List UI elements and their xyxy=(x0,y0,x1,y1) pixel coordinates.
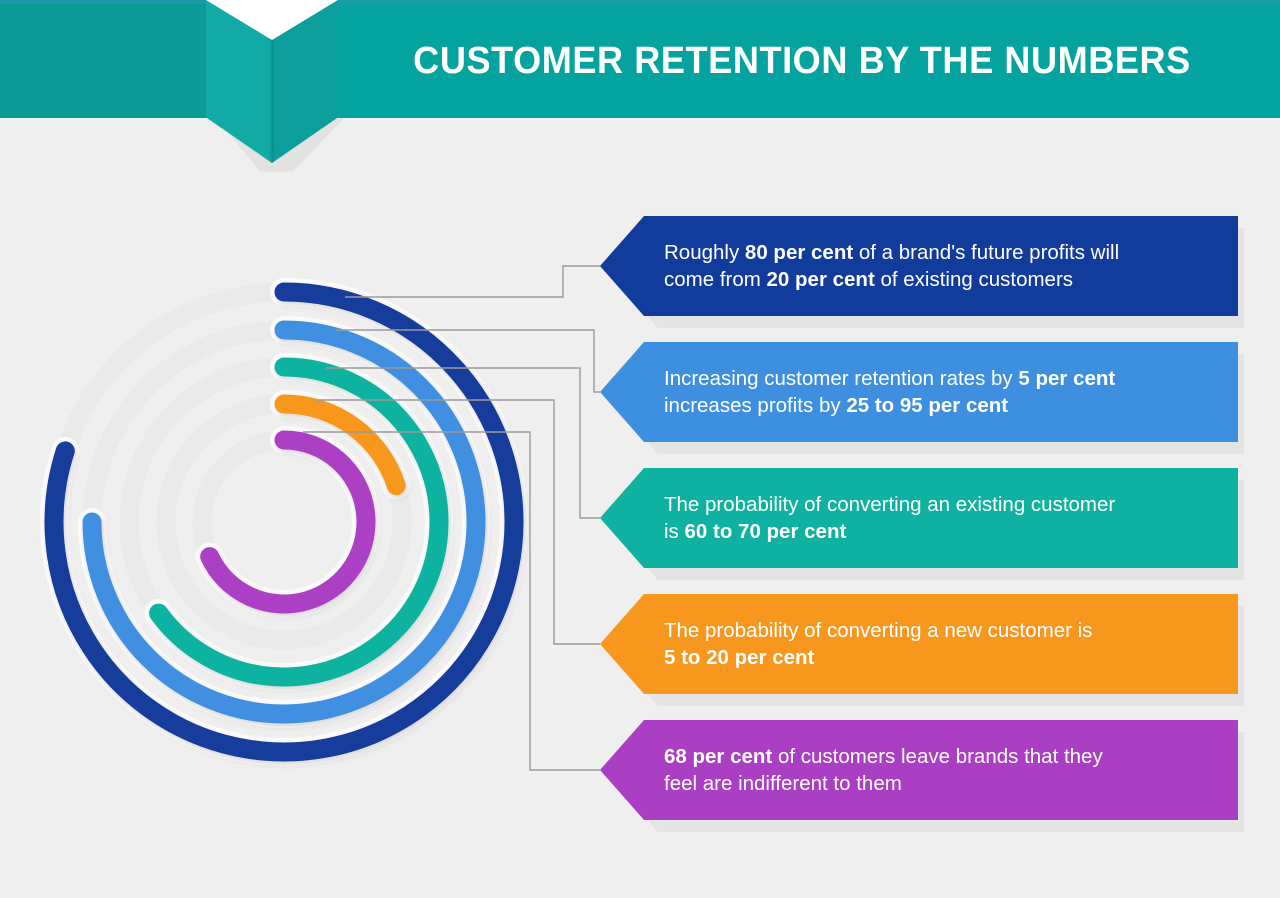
header-banner-left-shade xyxy=(0,4,208,118)
page-title: CUSTOMER RETENTION BY THE NUMBERS xyxy=(394,4,1211,118)
callout-5[interactable]: 68 per cent of customers leave brands th… xyxy=(600,720,1238,820)
callout-emphasis: 5 per cent xyxy=(1018,367,1115,390)
callout-text-line: 68 per cent of customers leave brands th… xyxy=(664,743,1103,770)
callout-emphasis: 5 to 20 per cent xyxy=(664,646,814,669)
callout-text-3: The probability of converting an existin… xyxy=(664,491,1115,545)
callout-emphasis: 20 per cent xyxy=(767,268,875,291)
callout-text-line: The probability of converting a new cust… xyxy=(664,617,1092,644)
bookmark-ribbon xyxy=(206,0,338,172)
callout-text-4: The probability of converting a new cust… xyxy=(664,617,1092,671)
callout-plain: of a brand's future profits will xyxy=(853,241,1119,264)
callout-plain: The probability of converting a new cust… xyxy=(664,619,1092,642)
callout-text-line: Increasing customer retention rates by 5… xyxy=(664,365,1115,392)
callout-text-line: is 60 to 70 per cent xyxy=(664,518,1115,545)
callout-4[interactable]: The probability of converting a new cust… xyxy=(600,594,1238,694)
callout-text-line: feel are indifferent to them xyxy=(664,770,1103,797)
callout-text-1: Roughly 80 per cent of a brand's future … xyxy=(664,239,1119,293)
callout-emphasis: 80 per cent xyxy=(745,241,853,264)
callout-2[interactable]: Increasing customer retention rates by 5… xyxy=(600,342,1238,442)
callout-emphasis: 25 to 95 per cent xyxy=(846,394,1008,417)
callout-1[interactable]: Roughly 80 per cent of a brand's future … xyxy=(600,216,1238,316)
callout-plain: of existing customers xyxy=(875,268,1073,291)
callout-plain: is xyxy=(664,520,685,543)
callout-text-line: come from 20 per cent of existing custom… xyxy=(664,266,1119,293)
infographic-canvas: CUSTOMER RETENTION BY THE NUMBERS Roughl… xyxy=(0,0,1280,898)
callout-plain: of customers leave brands that they xyxy=(772,745,1102,768)
callout-plain: come from xyxy=(664,268,767,291)
ribbon-crease xyxy=(270,26,274,163)
callout-text-line: 5 to 20 per cent xyxy=(664,644,1092,671)
callout-text-line: increases profits by 25 to 95 per cent xyxy=(664,392,1115,419)
radial-arc-chart xyxy=(24,262,544,782)
callout-text-2: Increasing customer retention rates by 5… xyxy=(664,365,1115,419)
callout-plain: feel are indifferent to them xyxy=(664,772,902,795)
callout-plain: increases profits by xyxy=(664,394,846,417)
callout-text-line: Roughly 80 per cent of a brand's future … xyxy=(664,239,1119,266)
callout-emphasis: 68 per cent xyxy=(664,745,772,768)
callout-text-line: The probability of converting an existin… xyxy=(664,491,1115,518)
callout-emphasis: 60 to 70 per cent xyxy=(685,520,847,543)
callout-plain: Roughly xyxy=(664,241,745,264)
callout-3[interactable]: The probability of converting an existin… xyxy=(600,468,1238,568)
callout-plain: The probability of converting an existin… xyxy=(664,493,1115,516)
callout-plain: Increasing customer retention rates by xyxy=(664,367,1018,390)
callout-text-5: 68 per cent of customers leave brands th… xyxy=(664,743,1103,797)
